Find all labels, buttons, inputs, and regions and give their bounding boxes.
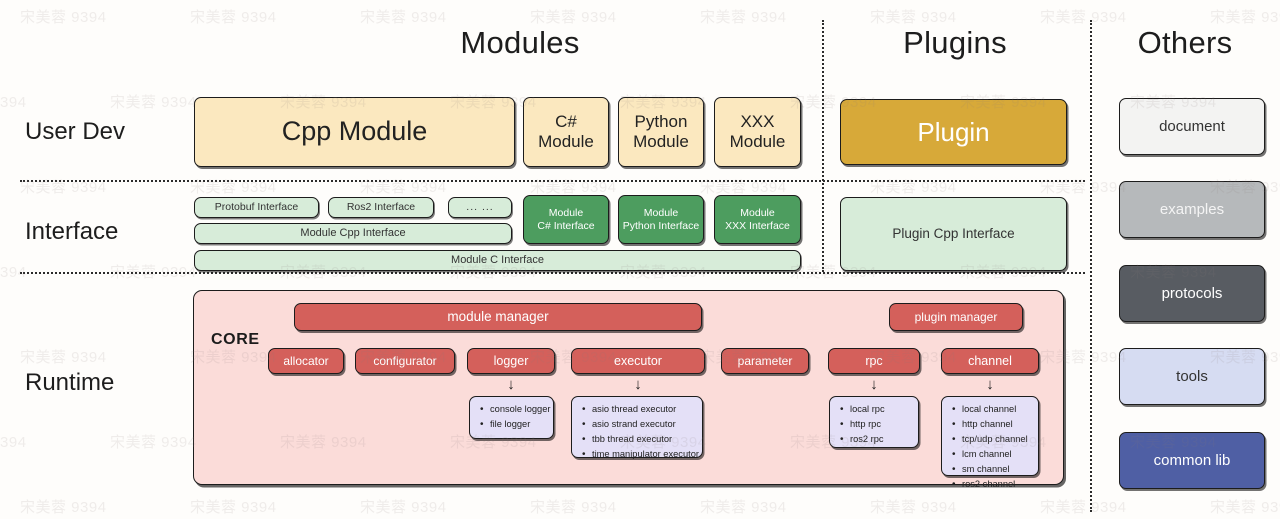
- list-item: local rpc: [850, 402, 912, 417]
- divider-interface-runtime: [20, 272, 1085, 274]
- module-python-box[interactable]: Python Module: [618, 97, 704, 167]
- watermark: 宋美蓉 9394: [0, 91, 27, 112]
- list-item: asio strand executor: [592, 417, 696, 432]
- watermark: 宋美蓉 9394: [20, 496, 107, 517]
- divider-vertical-plugins-others: [1090, 20, 1092, 512]
- module-xxx-interface-box[interactable]: Module XXX Interface: [714, 195, 801, 244]
- watermark: 宋美蓉 9394: [190, 496, 277, 517]
- column-header-others: Others: [1095, 25, 1275, 61]
- executor-children-box: asio thread executor asio strand executo…: [571, 396, 703, 458]
- module-cpp-interface-box[interactable]: Module Cpp Interface: [194, 223, 512, 244]
- component-executor-box[interactable]: executor: [571, 348, 705, 374]
- component-parameter-box[interactable]: parameter: [721, 348, 809, 374]
- protobuf-interface-box[interactable]: Protobuf Interface: [194, 197, 319, 218]
- watermark: 宋美蓉 9394: [700, 6, 787, 27]
- column-header-plugins: Plugins: [840, 25, 1070, 61]
- ros2-interface-box[interactable]: Ros2 Interface: [328, 197, 434, 218]
- list-item: http rpc: [850, 417, 912, 432]
- row-label-interface: Interface: [25, 218, 185, 246]
- others-common-lib-box[interactable]: common lib: [1119, 432, 1265, 489]
- list-item: local channel: [962, 402, 1032, 417]
- list-item: ros2 channel: [962, 477, 1032, 492]
- arrow-down-icon: ↓: [867, 377, 881, 392]
- list-item: file logger: [490, 417, 547, 432]
- component-channel-box[interactable]: channel: [941, 348, 1039, 374]
- row-label-runtime: Runtime: [25, 369, 185, 397]
- list-item: asio thread executor: [592, 402, 696, 417]
- plugin-cpp-interface-box[interactable]: Plugin Cpp Interface: [840, 197, 1067, 271]
- module-csharp-interface-box[interactable]: Module C# Interface: [523, 195, 609, 244]
- others-protocols-box[interactable]: protocols: [1119, 265, 1265, 322]
- module-cpp-box[interactable]: Cpp Module: [194, 97, 515, 167]
- watermark: 宋美蓉 9394: [870, 6, 957, 27]
- module-c-interface-box[interactable]: Module C Interface: [194, 250, 801, 271]
- watermark: 宋美蓉 9394: [0, 431, 27, 452]
- watermark: 宋美蓉 9394: [190, 6, 277, 27]
- arrow-down-icon: ↓: [631, 377, 645, 392]
- row-label-user-dev: User Dev: [25, 118, 185, 146]
- arrow-down-icon: ↓: [983, 377, 997, 392]
- module-xxx-box[interactable]: XXX Module: [714, 97, 801, 167]
- module-manager-box[interactable]: module manager: [294, 303, 702, 331]
- logger-children-box: console logger file logger: [469, 396, 554, 439]
- watermark: 宋美蓉 9394: [870, 496, 957, 517]
- watermark: 宋美蓉 9394: [20, 6, 107, 27]
- plugin-manager-box[interactable]: plugin manager: [889, 303, 1023, 331]
- watermark: 宋美蓉 9394: [360, 6, 447, 27]
- watermark: 宋美蓉 9394: [360, 496, 447, 517]
- architecture-diagram: 宋美蓉 9394 宋美蓉 9394 宋美蓉 9394 宋美蓉 9394 宋美蓉 …: [0, 0, 1280, 519]
- rpc-children-box: local rpc http rpc ros2 rpc: [829, 396, 919, 448]
- watermark: 宋美蓉 9394: [700, 496, 787, 517]
- list-item: lcm channel: [962, 447, 1032, 462]
- plugin-box[interactable]: Plugin: [840, 99, 1067, 165]
- watermark: 宋美蓉 9394: [110, 431, 197, 452]
- others-document-box[interactable]: document: [1119, 98, 1265, 155]
- column-header-modules: Modules: [330, 25, 710, 61]
- watermark: 宋美蓉 9394: [1040, 6, 1127, 27]
- list-item: tcp/udp channel: [962, 432, 1032, 447]
- watermark: 宋美蓉 9394: [530, 496, 617, 517]
- watermark: 宋美蓉 9394: [1040, 496, 1127, 517]
- watermark: 宋美蓉 9394: [1210, 6, 1280, 27]
- watermark: 宋美蓉 9394: [20, 346, 107, 367]
- list-item: ros2 rpc: [850, 432, 912, 447]
- divider-userdev-interface: [20, 180, 1085, 182]
- list-item: time manipulator executor: [592, 447, 696, 462]
- module-python-interface-box[interactable]: Module Python Interface: [618, 195, 704, 244]
- list-item: http channel: [962, 417, 1032, 432]
- divider-vertical-modules-plugins: [822, 20, 824, 272]
- component-configurator-box[interactable]: configurator: [355, 348, 455, 374]
- more-interface-box[interactable]: ... ...: [448, 197, 512, 218]
- list-item: console logger: [490, 402, 547, 417]
- list-item: tbb thread executor: [592, 432, 696, 447]
- others-tools-box[interactable]: tools: [1119, 348, 1265, 405]
- channel-children-box: local channel http channel tcp/udp chann…: [941, 396, 1039, 476]
- list-item: sm channel: [962, 462, 1032, 477]
- arrow-down-icon: ↓: [504, 377, 518, 392]
- module-csharp-box[interactable]: C# Module: [523, 97, 609, 167]
- component-rpc-box[interactable]: rpc: [828, 348, 920, 374]
- component-allocator-box[interactable]: allocator: [268, 348, 344, 374]
- watermark: 宋美蓉 9394: [110, 91, 197, 112]
- core-label: CORE: [211, 331, 260, 349]
- watermark: 宋美蓉 9394: [1210, 496, 1280, 517]
- component-logger-box[interactable]: logger: [467, 348, 555, 374]
- watermark: 宋美蓉 9394: [530, 6, 617, 27]
- others-examples-box[interactable]: examples: [1119, 181, 1265, 238]
